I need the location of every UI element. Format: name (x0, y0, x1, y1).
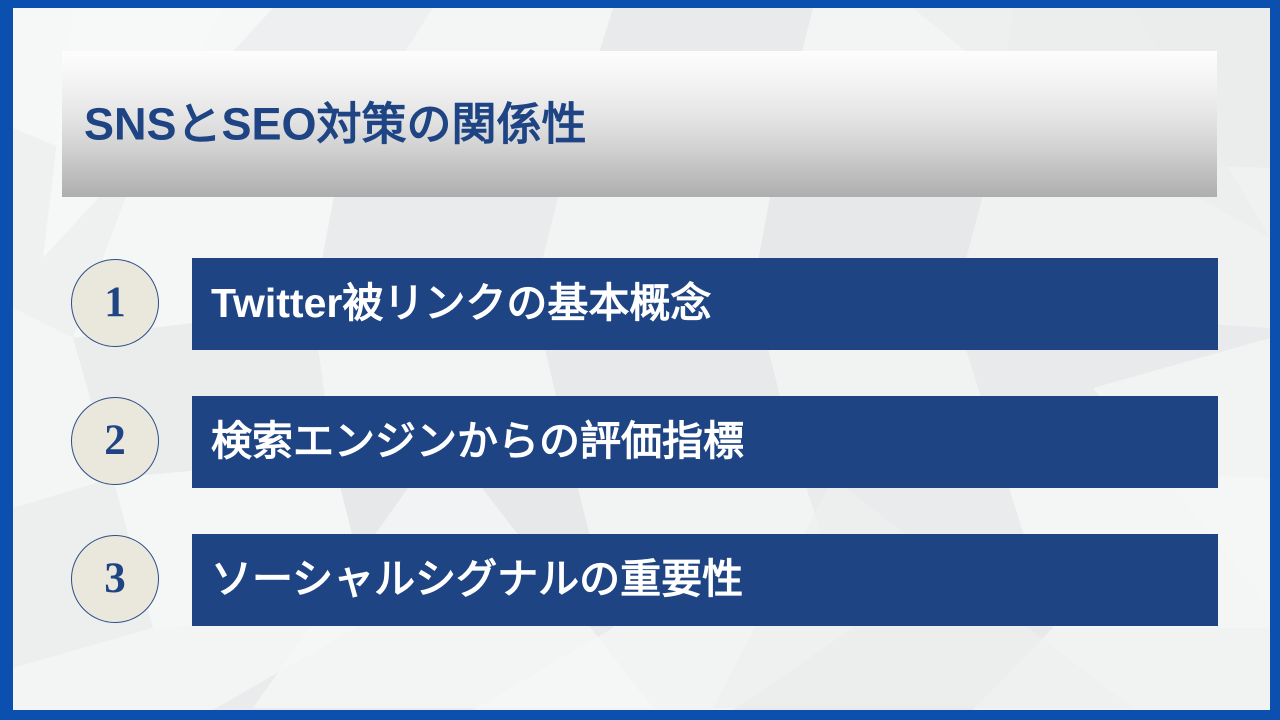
item-bar[interactable]: ソーシャルシグナルの重要性 (192, 534, 1218, 626)
item-number-label: 1 (104, 281, 126, 324)
slide-canvas: SNSとSEO対策の関係性 1 Twitter被リンクの基本概念 2 検索エンジ… (13, 8, 1270, 710)
item-number-label: 2 (104, 419, 126, 462)
item-number-badge: 2 (71, 397, 159, 485)
item-bar[interactable]: 検索エンジンからの評価指標 (192, 396, 1218, 488)
item-bar[interactable]: Twitter被リンクの基本概念 (192, 258, 1218, 350)
title-plate: SNSとSEO対策の関係性 (62, 51, 1217, 197)
item-number-label: 3 (104, 557, 126, 600)
item-number-badge: 3 (71, 535, 159, 623)
slide: SNSとSEO対策の関係性 1 Twitter被リンクの基本概念 2 検索エンジ… (0, 0, 1280, 720)
item-label: 検索エンジンからの評価指標 (211, 418, 744, 465)
item-number-badge: 1 (71, 259, 159, 347)
page-title: SNSとSEO対策の関係性 (84, 99, 587, 149)
item-label: ソーシャルシグナルの重要性 (211, 556, 743, 603)
item-label: Twitter被リンクの基本概念 (211, 280, 711, 327)
